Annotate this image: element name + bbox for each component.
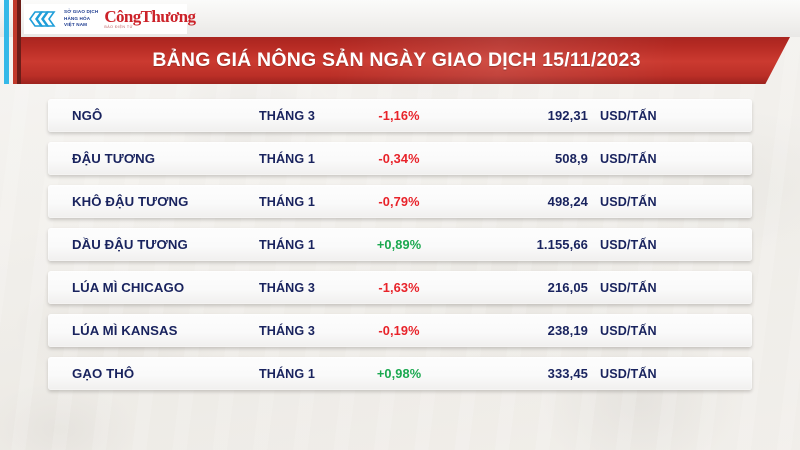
commodity-name: LÚA MÌ CHICAGO [72, 280, 184, 295]
price-value: 192,31 [408, 108, 588, 123]
price-unit: USD/TẤN [600, 109, 657, 123]
table-row[interactable]: ĐẬU TƯƠNGTHÁNG 1-0,34%508,9USD/TẤN [48, 142, 752, 175]
org-name: SỞ GIAO DỊCH HÀNG HÓA VIỆT NAM [64, 9, 98, 29]
title-banner: BẢNG GIÁ NÔNG SẢN NGÀY GIAO DỊCH 15/11/2… [21, 37, 790, 84]
commodity-name: ĐẬU TƯƠNG [72, 151, 155, 166]
price-value: 238,19 [408, 323, 588, 338]
price-board: SỞ GIAO DỊCH HÀNG HÓA VIỆT NAM CôngThươn… [0, 0, 800, 450]
table-row[interactable]: LÚA MÌ KANSASTHÁNG 3-0,19%238,19USD/TẤN [48, 314, 752, 347]
price-unit: USD/TẤN [600, 195, 657, 209]
commodity-table: NGÔTHÁNG 3-1,16%192,31USD/TẤNĐẬU TƯƠNGTH… [0, 99, 800, 400]
table-row[interactable]: GẠO THÔTHÁNG 1+0,98%333,45USD/TẤN [48, 357, 752, 390]
org-line-1: SỞ GIAO DỊCH [64, 9, 98, 16]
price-unit: USD/TẤN [600, 238, 657, 252]
table-row[interactable]: KHÔ ĐẬU TƯƠNGTHÁNG 1-0,79%498,24USD/TẤN [48, 185, 752, 218]
contract-month: THÁNG 3 [259, 109, 315, 123]
sgdhh-wave-logo-icon [28, 8, 58, 30]
table-row[interactable]: DẦU ĐẬU TƯƠNGTHÁNG 1+0,89%1.155,66USD/TẤ… [48, 228, 752, 261]
logo-lockup: SỞ GIAO DỊCH HÀNG HÓA VIỆT NAM CôngThươn… [24, 4, 187, 34]
congthuong-brand: CôngThương BÁO ĐIỆN TỬ [104, 8, 195, 30]
commodity-name: KHÔ ĐẬU TƯƠNG [72, 194, 189, 209]
contract-month: THÁNG 1 [259, 238, 315, 252]
price-value: 1.155,66 [408, 237, 588, 252]
price-unit: USD/TẤN [600, 324, 657, 338]
contract-month: THÁNG 1 [259, 195, 315, 209]
commodity-name: GẠO THÔ [72, 366, 134, 381]
accent-stripe-cyan [4, 0, 9, 84]
price-value: 508,9 [408, 151, 588, 166]
congthuong-wordmark: CôngThương [104, 7, 195, 26]
contract-month: THÁNG 1 [259, 367, 315, 381]
table-row[interactable]: NGÔTHÁNG 3-1,16%192,31USD/TẤN [48, 99, 752, 132]
page-title: BẢNG GIÁ NÔNG SẢN NGÀY GIAO DỊCH 15/11/2… [152, 49, 640, 72]
contract-month: THÁNG 1 [259, 152, 315, 166]
commodity-name: NGÔ [72, 108, 102, 123]
price-unit: USD/TẤN [600, 281, 657, 295]
org-line-3: VIỆT NAM [64, 22, 98, 29]
price-value: 333,45 [408, 366, 588, 381]
congthuong-tagline: BÁO ĐIỆN TỬ [104, 26, 195, 30]
price-value: 216,05 [408, 280, 588, 295]
contract-month: THÁNG 3 [259, 281, 315, 295]
price-unit: USD/TẤN [600, 152, 657, 166]
commodity-name: LÚA MÌ KANSAS [72, 323, 178, 338]
contract-month: THÁNG 3 [259, 324, 315, 338]
price-value: 498,24 [408, 194, 588, 209]
price-unit: USD/TẤN [600, 367, 657, 381]
accent-stripe-maroon [17, 0, 21, 84]
commodity-name: DẦU ĐẬU TƯƠNG [72, 237, 188, 252]
table-row[interactable]: LÚA MÌ CHICAGOTHÁNG 3-1,63%216,05USD/TẤN [48, 271, 752, 304]
